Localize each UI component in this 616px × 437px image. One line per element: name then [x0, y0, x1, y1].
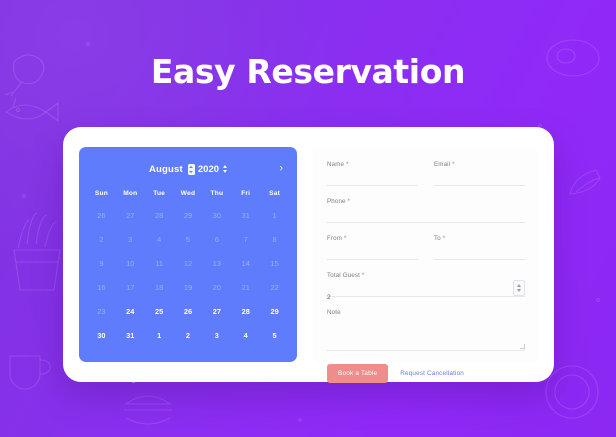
reservation-card: August 2020 › Sun Mon Tue Wed Thu Fri Sa… — [63, 127, 554, 382]
field-to: To * — [434, 235, 525, 260]
calendar-day-0-2: 28 — [145, 203, 174, 227]
form-actions: Book a Table Request Cancellation — [327, 364, 525, 383]
calendar-day-2-0: 9 — [87, 251, 116, 275]
field-name: Name * — [327, 161, 418, 186]
calendar-day-grid[interactable]: 2627282930311234567891011121314151617181… — [87, 203, 289, 347]
calendar-day-4-2[interactable]: 25 — [145, 299, 174, 323]
calendar-day-1-2: 4 — [145, 227, 174, 251]
input-note[interactable] — [327, 323, 525, 351]
input-to[interactable] — [434, 249, 525, 260]
day-name-sat: Sat — [260, 190, 289, 197]
calendar-day-4-5[interactable]: 28 — [231, 299, 260, 323]
total-guest-stepper[interactable] — [513, 280, 525, 296]
day-name-thu: Thu — [202, 190, 231, 197]
label-from: From * — [327, 235, 418, 242]
stepper-down-icon[interactable] — [517, 289, 521, 292]
calendar-day-2-3: 12 — [174, 251, 203, 275]
field-from: From * — [327, 235, 418, 260]
calendar-day-0-3: 29 — [174, 203, 203, 227]
calendar-day-3-5: 21 — [231, 275, 260, 299]
calendar-day-0-4: 30 — [202, 203, 231, 227]
calendar-day-2-6: 15 — [260, 251, 289, 275]
calendar-day-2-1: 10 — [116, 251, 145, 275]
input-total-guest[interactable]: 2 — [327, 286, 525, 297]
label-name: Name * — [327, 161, 418, 168]
stepper-up-icon[interactable] — [517, 284, 521, 287]
calendar-day-1-6: 8 — [260, 227, 289, 251]
calendar-day-5-1[interactable]: 31 — [116, 323, 145, 347]
calendar-day-4-4[interactable]: 27 — [202, 299, 231, 323]
calendar-day-3-1: 17 — [116, 275, 145, 299]
calendar-panel: August 2020 › Sun Mon Tue Wed Thu Fri Sa… — [79, 147, 297, 362]
label-total-guest: Total Guest * — [327, 272, 525, 279]
reservation-form: Name * Email * Phone * — [313, 147, 539, 362]
calendar-day-names: Sun Mon Tue Wed Thu Fri Sat — [87, 190, 289, 197]
field-phone: Phone * — [327, 198, 525, 223]
calendar-day-0-6: 1 — [260, 203, 289, 227]
calendar-day-0-0: 26 — [87, 203, 116, 227]
form-row-name-email: Name * Email * — [327, 161, 525, 198]
day-name-tue: Tue — [145, 190, 174, 197]
calendar-header: August 2020 › — [87, 157, 289, 181]
calendar-day-3-6: 22 — [260, 275, 289, 299]
calendar-day-1-3: 5 — [174, 227, 203, 251]
label-email: Email * — [434, 161, 525, 168]
calendar-day-1-5: 7 — [231, 227, 260, 251]
field-note: Note — [327, 309, 525, 351]
day-name-wed: Wed — [174, 190, 203, 197]
calendar-day-2-5: 14 — [231, 251, 260, 275]
day-name-sun: Sun — [87, 190, 116, 197]
note-resize-handle-icon[interactable] — [520, 344, 525, 349]
calendar-day-5-0[interactable]: 30 — [87, 323, 116, 347]
year-stepper-icon[interactable] — [223, 165, 227, 173]
calendar-day-4-1[interactable]: 24 — [116, 299, 145, 323]
book-a-table-button[interactable]: Book a Table — [327, 364, 388, 383]
label-note: Note — [327, 309, 525, 316]
calendar-month-label[interactable]: August — [149, 164, 183, 175]
calendar-day-3-2: 18 — [145, 275, 174, 299]
calendar-next-month-button[interactable]: › — [279, 164, 283, 175]
page-title: Easy Reservation — [0, 52, 616, 91]
request-cancellation-link[interactable]: Request Cancellation — [400, 370, 464, 377]
calendar-day-4-0: 23 — [87, 299, 116, 323]
calendar-day-2-2: 11 — [145, 251, 174, 275]
calendar-day-4-3[interactable]: 26 — [174, 299, 203, 323]
calendar-day-5-5[interactable]: 4 — [231, 323, 260, 347]
input-email[interactable] — [434, 175, 525, 186]
page-root: Easy Reservation August 2020 › Sun Mon T… — [0, 0, 616, 437]
calendar-day-1-4: 6 — [202, 227, 231, 251]
calendar-day-5-4[interactable]: 3 — [202, 323, 231, 347]
month-spinner-icon[interactable] — [188, 164, 195, 175]
calendar-day-3-0: 16 — [87, 275, 116, 299]
input-name[interactable] — [327, 175, 418, 186]
input-phone[interactable] — [327, 212, 525, 223]
total-guest-value: 2 — [327, 294, 331, 301]
label-phone: Phone * — [327, 198, 525, 205]
field-total-guest: Total Guest * 2 — [327, 272, 525, 297]
calendar-day-3-3: 19 — [174, 275, 203, 299]
calendar-year-label[interactable]: 2020 — [198, 164, 219, 175]
input-from[interactable] — [327, 249, 418, 260]
label-to: To * — [434, 235, 525, 242]
calendar-day-4-6[interactable]: 29 — [260, 299, 289, 323]
calendar-day-2-4: 13 — [202, 251, 231, 275]
calendar-day-3-4: 20 — [202, 275, 231, 299]
calendar-day-1-1: 3 — [116, 227, 145, 251]
calendar-day-0-5: 31 — [231, 203, 260, 227]
calendar-day-1-0: 2 — [87, 227, 116, 251]
form-row-from-to: From * To * — [327, 235, 525, 272]
field-email: Email * — [434, 161, 525, 186]
day-name-fri: Fri — [231, 190, 260, 197]
calendar-day-5-6[interactable]: 5 — [260, 323, 289, 347]
day-name-mon: Mon — [116, 190, 145, 197]
calendar-day-5-3[interactable]: 2 — [174, 323, 203, 347]
calendar-day-0-1: 27 — [116, 203, 145, 227]
calendar-year-control[interactable]: 2020 — [188, 164, 227, 175]
calendar-day-5-2[interactable]: 1 — [145, 323, 174, 347]
